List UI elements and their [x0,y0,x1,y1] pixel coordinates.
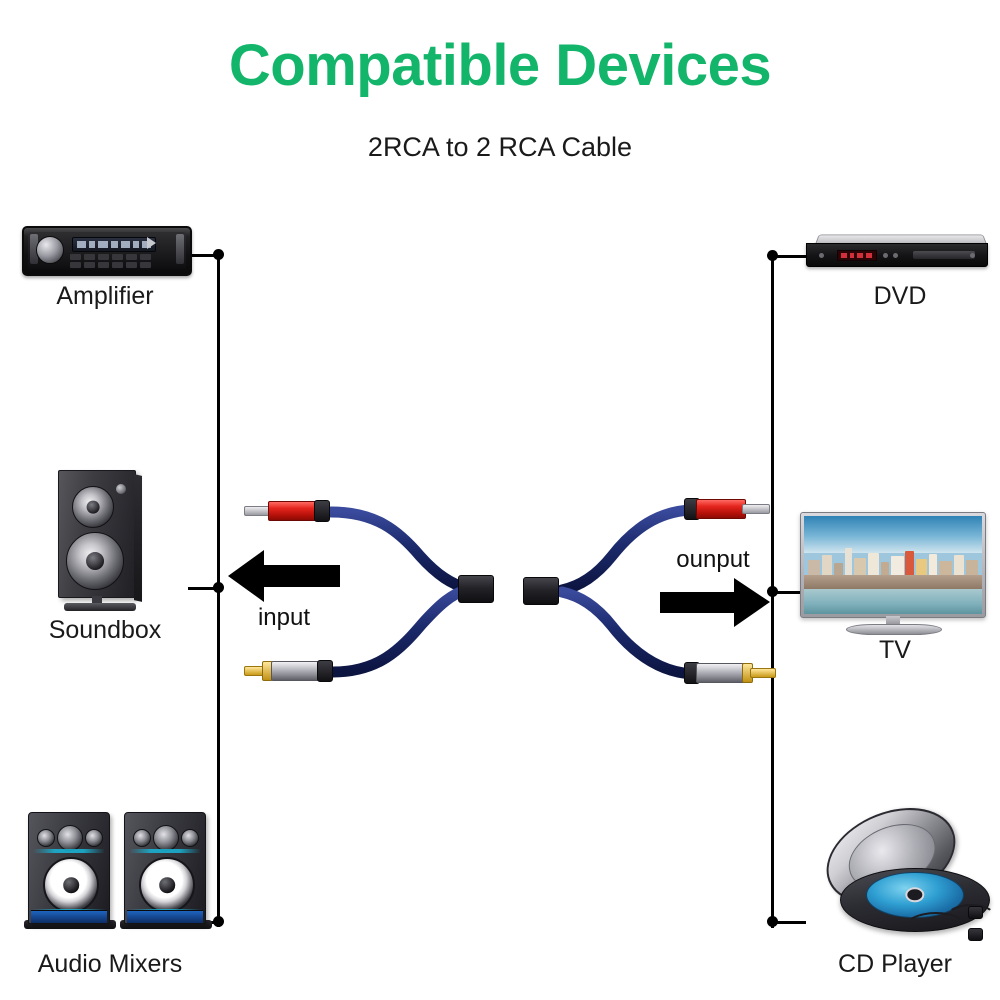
device-label-soundbox: Soundbox [5,616,205,645]
cd-player-icon [818,812,990,942]
output-arrow-label: ounput [658,546,768,574]
left-node-audio-mixers [213,916,224,927]
input-arrow-icon [228,548,340,604]
left-node-soundbox [213,582,224,593]
right-node-cd-player [767,916,778,927]
device-label-audio-mixers: Audio Mixers [0,950,220,979]
dvd-player-icon [806,232,986,270]
speaker-pair-icon [28,812,204,932]
cable-splitter-left [458,575,494,603]
device-label-dvd: DVD [800,282,1000,311]
car-stereo-icon [22,226,192,276]
cable-splitter-right [523,577,559,605]
right-node-dvd [767,250,778,261]
output-arrow-icon [660,576,770,628]
rca-plug-right-white [684,659,780,685]
device-label-amplifier: Amplifier [5,282,205,311]
rca-plug-left-white [244,657,340,683]
right-stub-cd-player [774,921,806,924]
device-label-tv: TV [800,636,990,665]
page-title: Compatible Devices [0,36,1000,97]
right-stub-dvd [774,255,806,258]
page-subtitle: 2RCA to 2 RCA Cable [0,132,1000,163]
speaker-icon [58,470,142,610]
rca-plug-right-red [684,495,776,521]
device-label-cd-player: CD Player [790,950,1000,979]
left-node-amplifier [213,249,224,260]
rca-plug-left-red [244,497,336,523]
input-arrow-label: input [228,604,340,632]
television-icon [800,512,986,640]
diagram-page: Compatible Devices 2RCA to 2 RCA Cable [0,0,1000,1000]
